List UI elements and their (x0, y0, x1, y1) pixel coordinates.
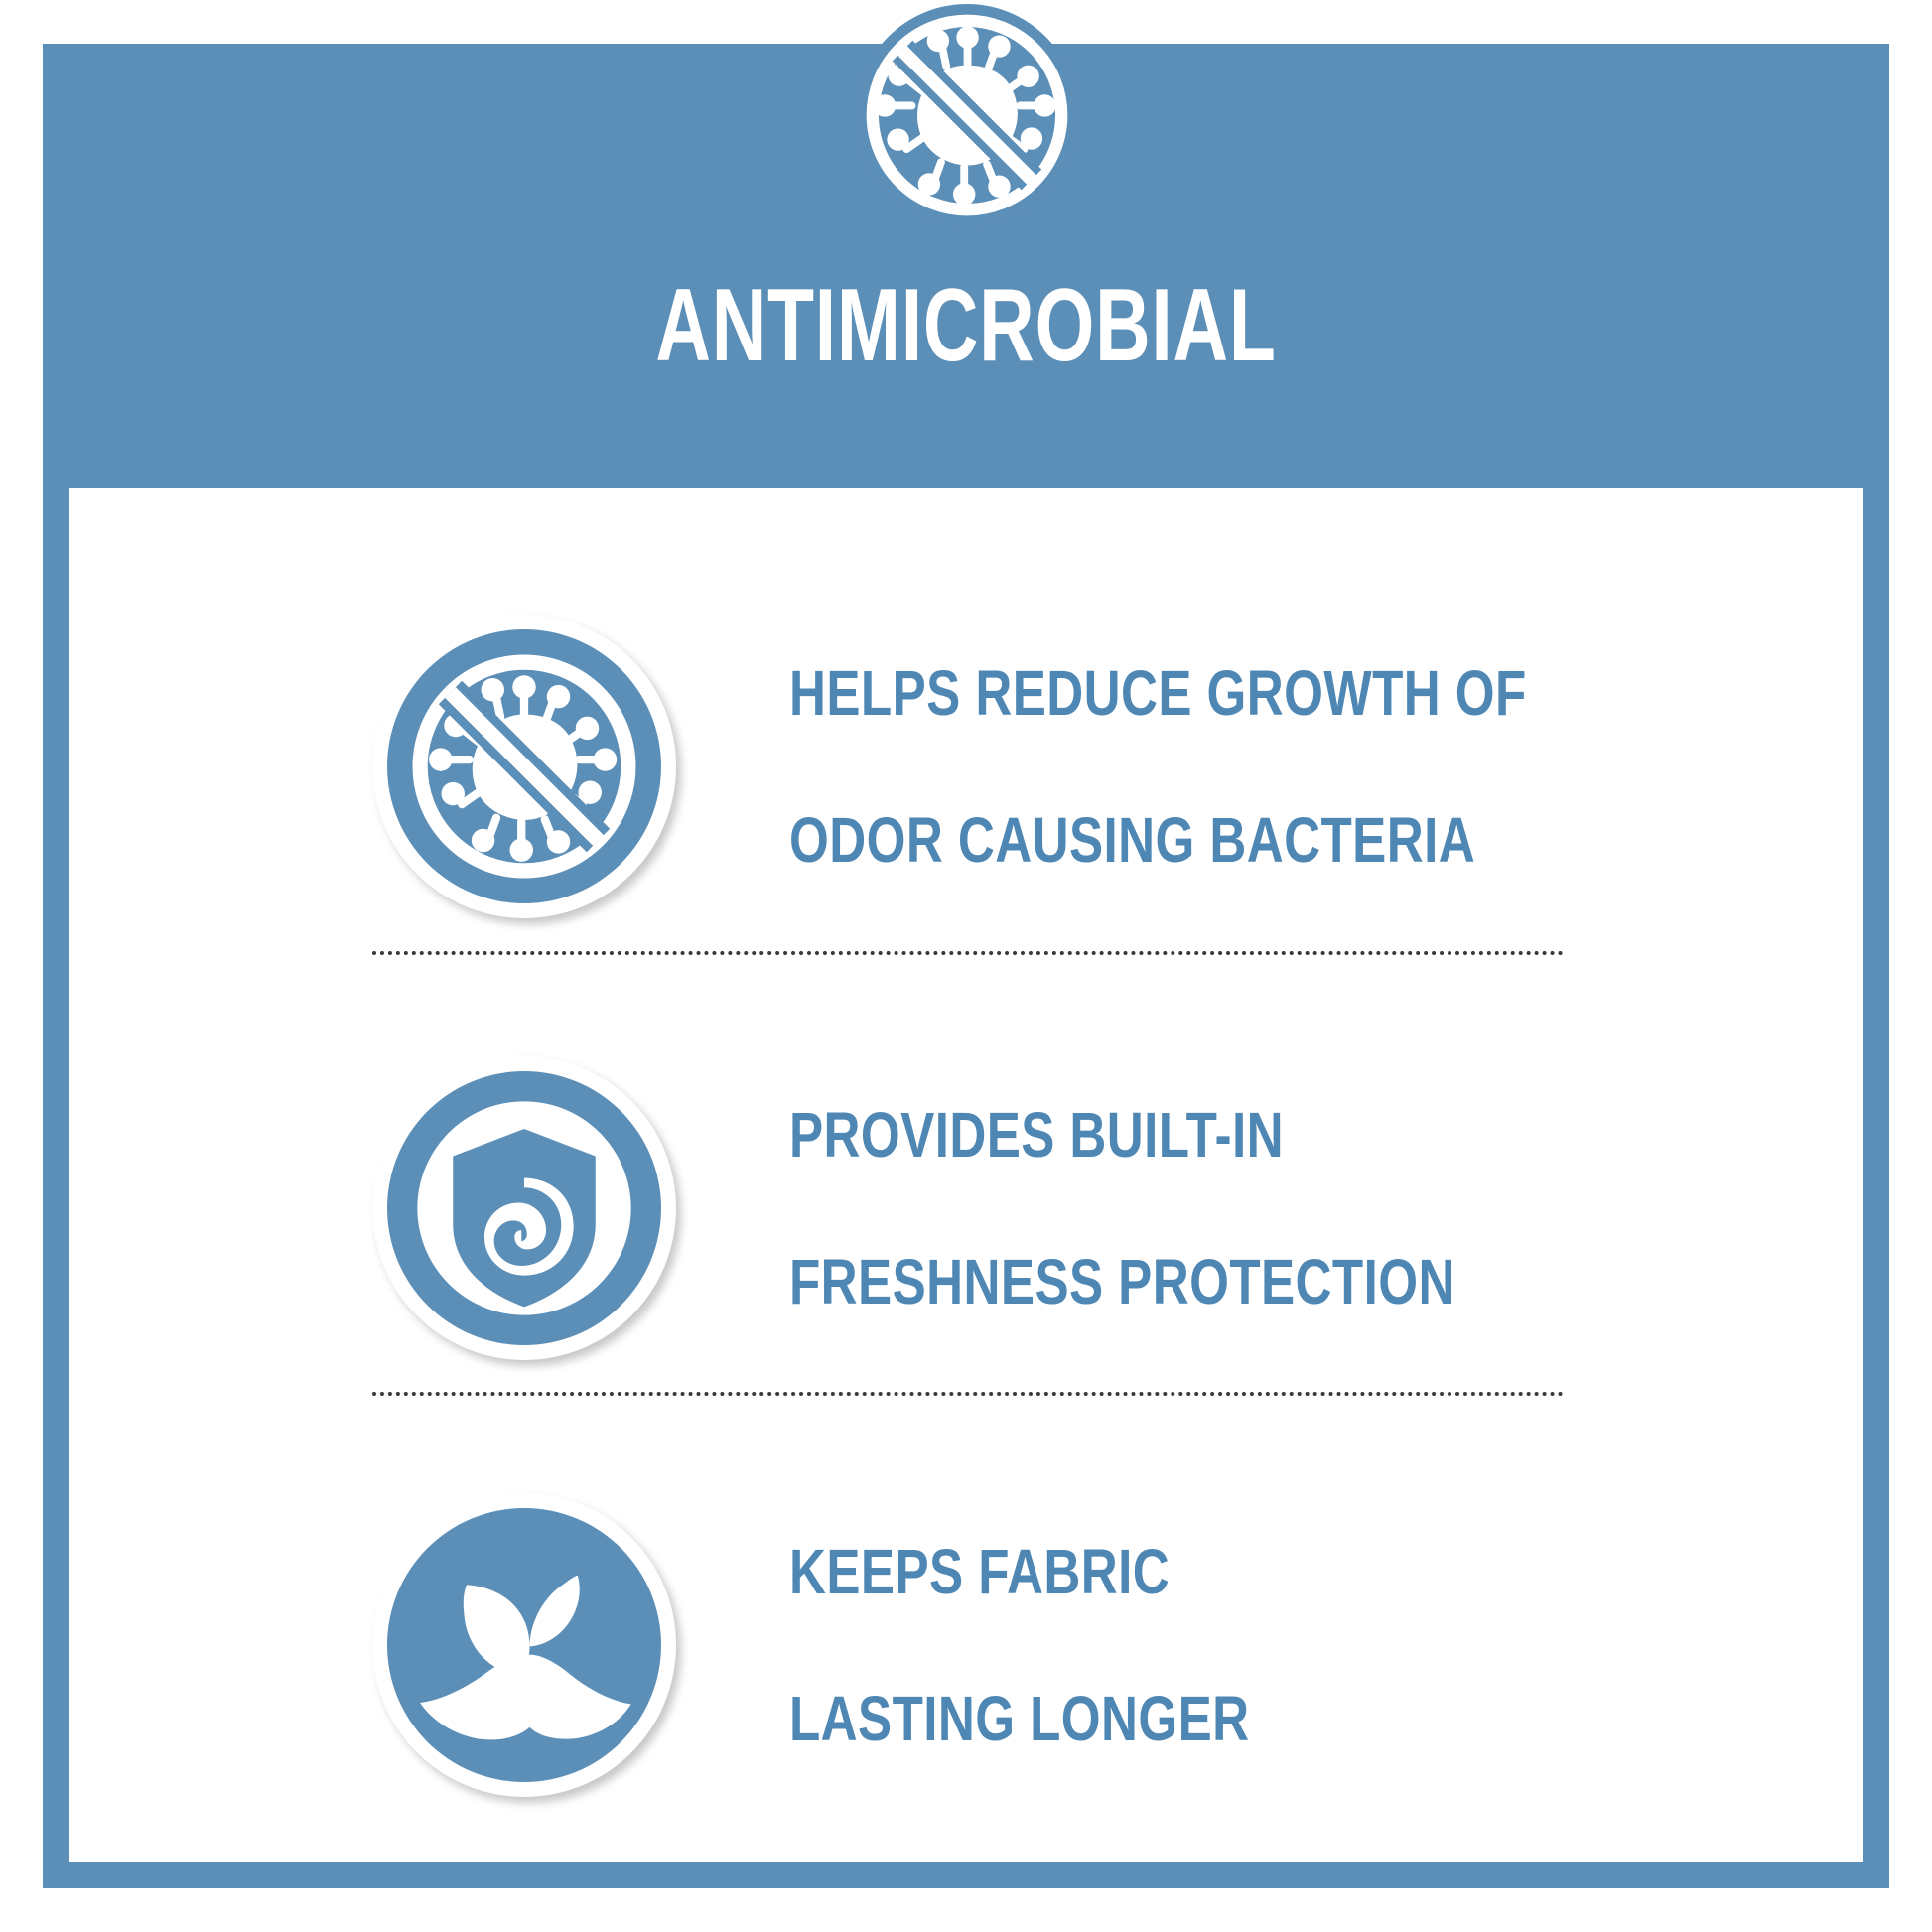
divider (372, 951, 1564, 955)
feature-label-line1: HELPS REDUCE GROWTH OF (789, 656, 1527, 730)
divider (372, 1392, 1564, 1396)
feature-row: KEEPS FABRIC LASTING LONGER (69, 1481, 1863, 1809)
feature-label-line1: PROVIDES BUILT-IN (789, 1098, 1455, 1172)
feature-label: PROVIDES BUILT-IN FRESHNESS PROTECTION (789, 1025, 1622, 1392)
feature-label-line1: KEEPS FABRIC (789, 1535, 1250, 1608)
shield-freshness-icon (372, 1056, 676, 1360)
feature-label: KEEPS FABRIC LASTING LONGER (789, 1461, 1364, 1829)
feature-label-line2: ODOR CAUSING BACTERIA (789, 803, 1527, 877)
feature-label-line2: LASTING LONGER (789, 1682, 1250, 1755)
feature-row: PROVIDES BUILT-IN FRESHNESS PROTECTION (69, 1044, 1863, 1372)
feature-list: HELPS REDUCE GROWTH OF ODOR CAUSING BACT… (69, 488, 1863, 1862)
feature-label-line2: FRESHNESS PROTECTION (789, 1245, 1455, 1318)
antimicrobial-infographic: ANTIMICROBIAL (0, 0, 1932, 1932)
feature-label: HELPS REDUCE GROWTH OF ODOR CAUSING BACT… (789, 583, 1711, 950)
feature-row: HELPS REDUCE GROWTH OF ODOR CAUSING BACT… (69, 603, 1863, 930)
no-germ-icon (372, 615, 676, 918)
leaf-sprout-icon (372, 1493, 676, 1797)
